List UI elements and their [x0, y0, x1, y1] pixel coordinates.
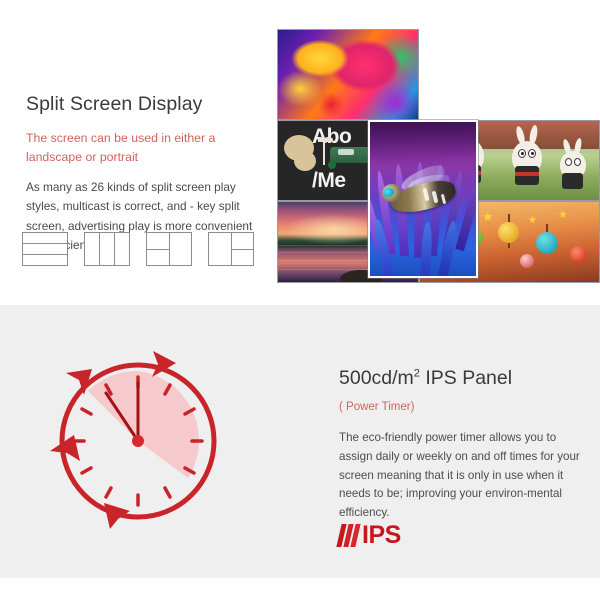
split-screen-title: Split Screen Display [26, 93, 266, 116]
ips-logo-text: IPS [362, 524, 401, 547]
ips-title-main: 500cd/m [339, 367, 414, 389]
abstract-color-art-tile [277, 29, 419, 120]
ips-panel-section: Frankie & Benny's NEW YORK ITALIAN RESTA… [0, 305, 600, 578]
left-two-right-one-layout-icon[interactable] [146, 232, 192, 266]
split-screen-text-block: Split Screen Display The screen can be u… [26, 93, 266, 255]
ips-title-rest: IPS Panel [420, 367, 512, 389]
split-screen-subtitle: The screen can be used in either a lands… [26, 129, 266, 166]
clock-wedge [88, 371, 199, 478]
ips-logo: IPS [339, 521, 401, 549]
split-layout-icon-group [22, 232, 254, 266]
about-tile-word-bottom: /Me [312, 169, 346, 193]
ips-panel-subtitle: ( Power Timer) [339, 401, 585, 413]
power-timer-clock [48, 333, 228, 548]
left-one-right-two-layout-icon[interactable] [208, 232, 254, 266]
ips-panel-title: 500cd/m2 IPS Panel [339, 367, 585, 390]
three-columns-layout-icon[interactable] [84, 232, 130, 266]
split-screen-mosaic: Abo /Me [277, 29, 600, 283]
bee-on-flower-photo-tile [368, 120, 478, 278]
product-feature-page: Split Screen Display The screen can be u… [0, 0, 600, 600]
three-rows-layout-icon[interactable] [22, 232, 68, 266]
ips-logo-bars [339, 524, 360, 547]
ips-panel-body: The eco-friendly power timer allows you … [339, 429, 585, 523]
ips-text-block: 500cd/m2 IPS Panel ( Power Timer) The ec… [339, 367, 585, 523]
split-screen-section: Split Screen Display The screen can be u… [0, 0, 600, 305]
